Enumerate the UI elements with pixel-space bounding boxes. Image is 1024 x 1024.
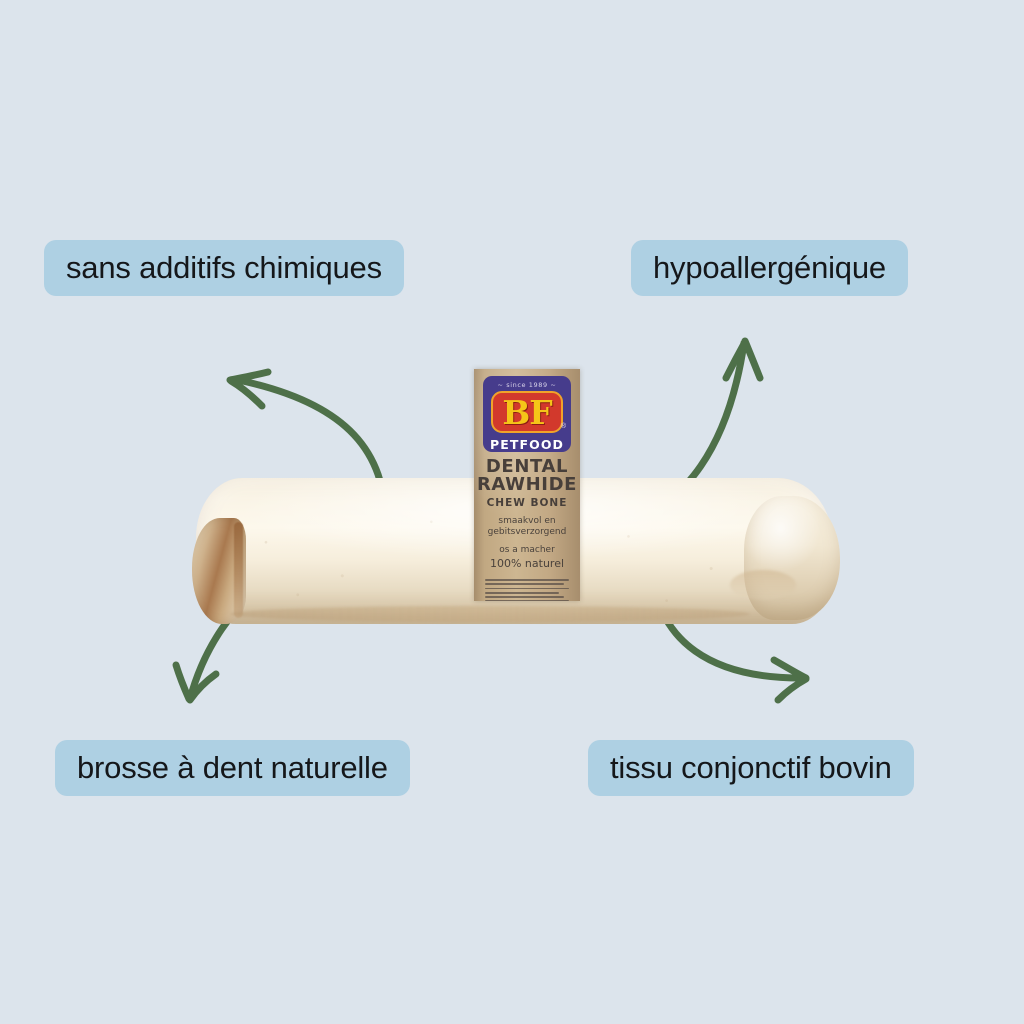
- product-name-line3: CHEW BONE: [477, 497, 577, 509]
- product-name-line2: RAWHIDE: [477, 476, 577, 494]
- claim-nl-line1: smaakvol en: [488, 516, 567, 528]
- feature-pill-tissu-conjonctif-bovin[interactable]: tissu conjonctif bovin: [588, 740, 914, 796]
- feature-pill-label: brosse à dent naturelle: [77, 750, 388, 786]
- brand-badge: ~ since 1989 ~ BF ® PETFOOD: [483, 376, 571, 452]
- claim-nl-line2: gebitsverzorgend: [488, 527, 567, 539]
- feature-pill-brosse-a-dent-naturelle[interactable]: brosse à dent naturelle: [55, 740, 410, 796]
- feature-pill-hypoallergenique[interactable]: hypoallergénique: [631, 240, 908, 296]
- product-name-block: DENTAL RAWHIDE CHEW BONE: [477, 458, 577, 509]
- since-text: ~ since 1989 ~: [498, 381, 557, 389]
- rawhide-seam: [234, 522, 243, 618]
- rawhide-knot-right: [744, 496, 840, 620]
- feature-pill-label: hypoallergénique: [653, 250, 886, 286]
- feature-pill-label: tissu conjonctif bovin: [610, 750, 892, 786]
- feature-pill-label: sans additifs chimiques: [66, 250, 382, 286]
- product-wrap-label: ~ since 1989 ~ BF ® PETFOOD DENTAL RAWHI…: [474, 369, 580, 601]
- brand-logo: BF: [491, 391, 563, 433]
- brand-initials: BF: [502, 396, 551, 429]
- label-fine-print: [485, 579, 569, 601]
- feature-pill-sans-additifs-chimiques[interactable]: sans additifs chimiques: [44, 240, 404, 296]
- claim-fr-line1: os a macher: [488, 545, 567, 557]
- infographic-canvas: ~ since 1989 ~ BF ® PETFOOD DENTAL RAWHI…: [0, 0, 1024, 1024]
- rawhide-knot-fold: [730, 570, 796, 600]
- product-claims: smaakvol en gebitsverzorgend os a macher…: [488, 516, 567, 571]
- rawhide-bottom-shadow: [230, 606, 750, 622]
- claim-fr-line2: 100% naturel: [488, 557, 567, 571]
- brand-subtitle: PETFOOD: [490, 437, 564, 452]
- registered-mark-icon: ®: [561, 423, 566, 430]
